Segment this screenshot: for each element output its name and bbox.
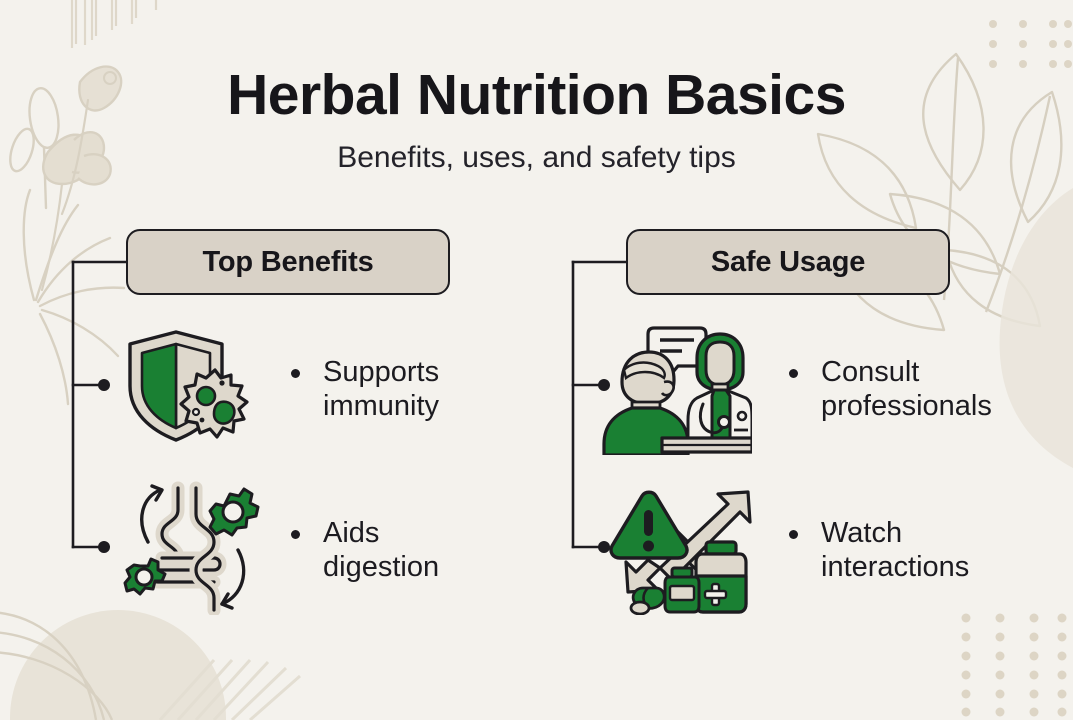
bullet-dot [291, 530, 300, 539]
warning-triangle [611, 492, 687, 558]
infographic-canvas: Herbal Nutrition Basics Benefits, uses, … [0, 0, 1073, 720]
counter-desk [662, 438, 752, 452]
doctor-figure [688, 334, 752, 440]
bullet-line-1: Watch [821, 516, 1039, 550]
bullet-aids-digestion: Aids digestion [291, 516, 541, 584]
gear-small [125, 559, 165, 594]
shield-virus-icon [118, 320, 268, 455]
branch-header-top-benefits[interactable]: Top Benefits [126, 229, 450, 295]
doctor-consultation-icon [602, 320, 752, 455]
bullet-line-2: interactions [821, 550, 1039, 584]
bullet-consult-professionals: Consult professionals [789, 355, 1039, 423]
intestine-tract [152, 488, 220, 610]
bullet-line-1: Aids [323, 516, 541, 550]
drug-interaction-warning-icon [602, 480, 752, 615]
bullet-line-2: digestion [323, 550, 541, 584]
intestines-gears-icon [118, 480, 268, 615]
coat-badge-clip [738, 412, 746, 420]
bullet-dot [789, 369, 798, 378]
page-title: Herbal Nutrition Basics [0, 64, 1073, 127]
bullet-line-1: Supports [323, 355, 541, 389]
bullet-line-2: immunity [323, 389, 541, 423]
bullet-watch-interactions: Watch interactions [789, 516, 1039, 584]
branch-header-label: Safe Usage [711, 246, 865, 279]
branch-header-label: Top Benefits [202, 246, 373, 279]
doctor-face [706, 342, 734, 385]
bullet-dot [789, 530, 798, 539]
page-subtitle: Benefits, uses, and safety tips [0, 140, 1073, 176]
capsule-pills [631, 588, 664, 614]
bullet-dot [291, 369, 300, 378]
medicine-bottle-large [696, 542, 746, 612]
gear-large [210, 489, 258, 535]
content-layer: Herbal Nutrition Basics Benefits, uses, … [0, 0, 1073, 720]
patient-ear [662, 382, 674, 396]
bullet-line-1: Consult [821, 355, 1039, 389]
bullet-line-2: professionals [821, 389, 1039, 423]
branch-header-safe-usage[interactable]: Safe Usage [626, 229, 950, 295]
stethoscope-bell [719, 417, 730, 428]
bullet-supports-immunity: Supports immunity [291, 355, 541, 423]
